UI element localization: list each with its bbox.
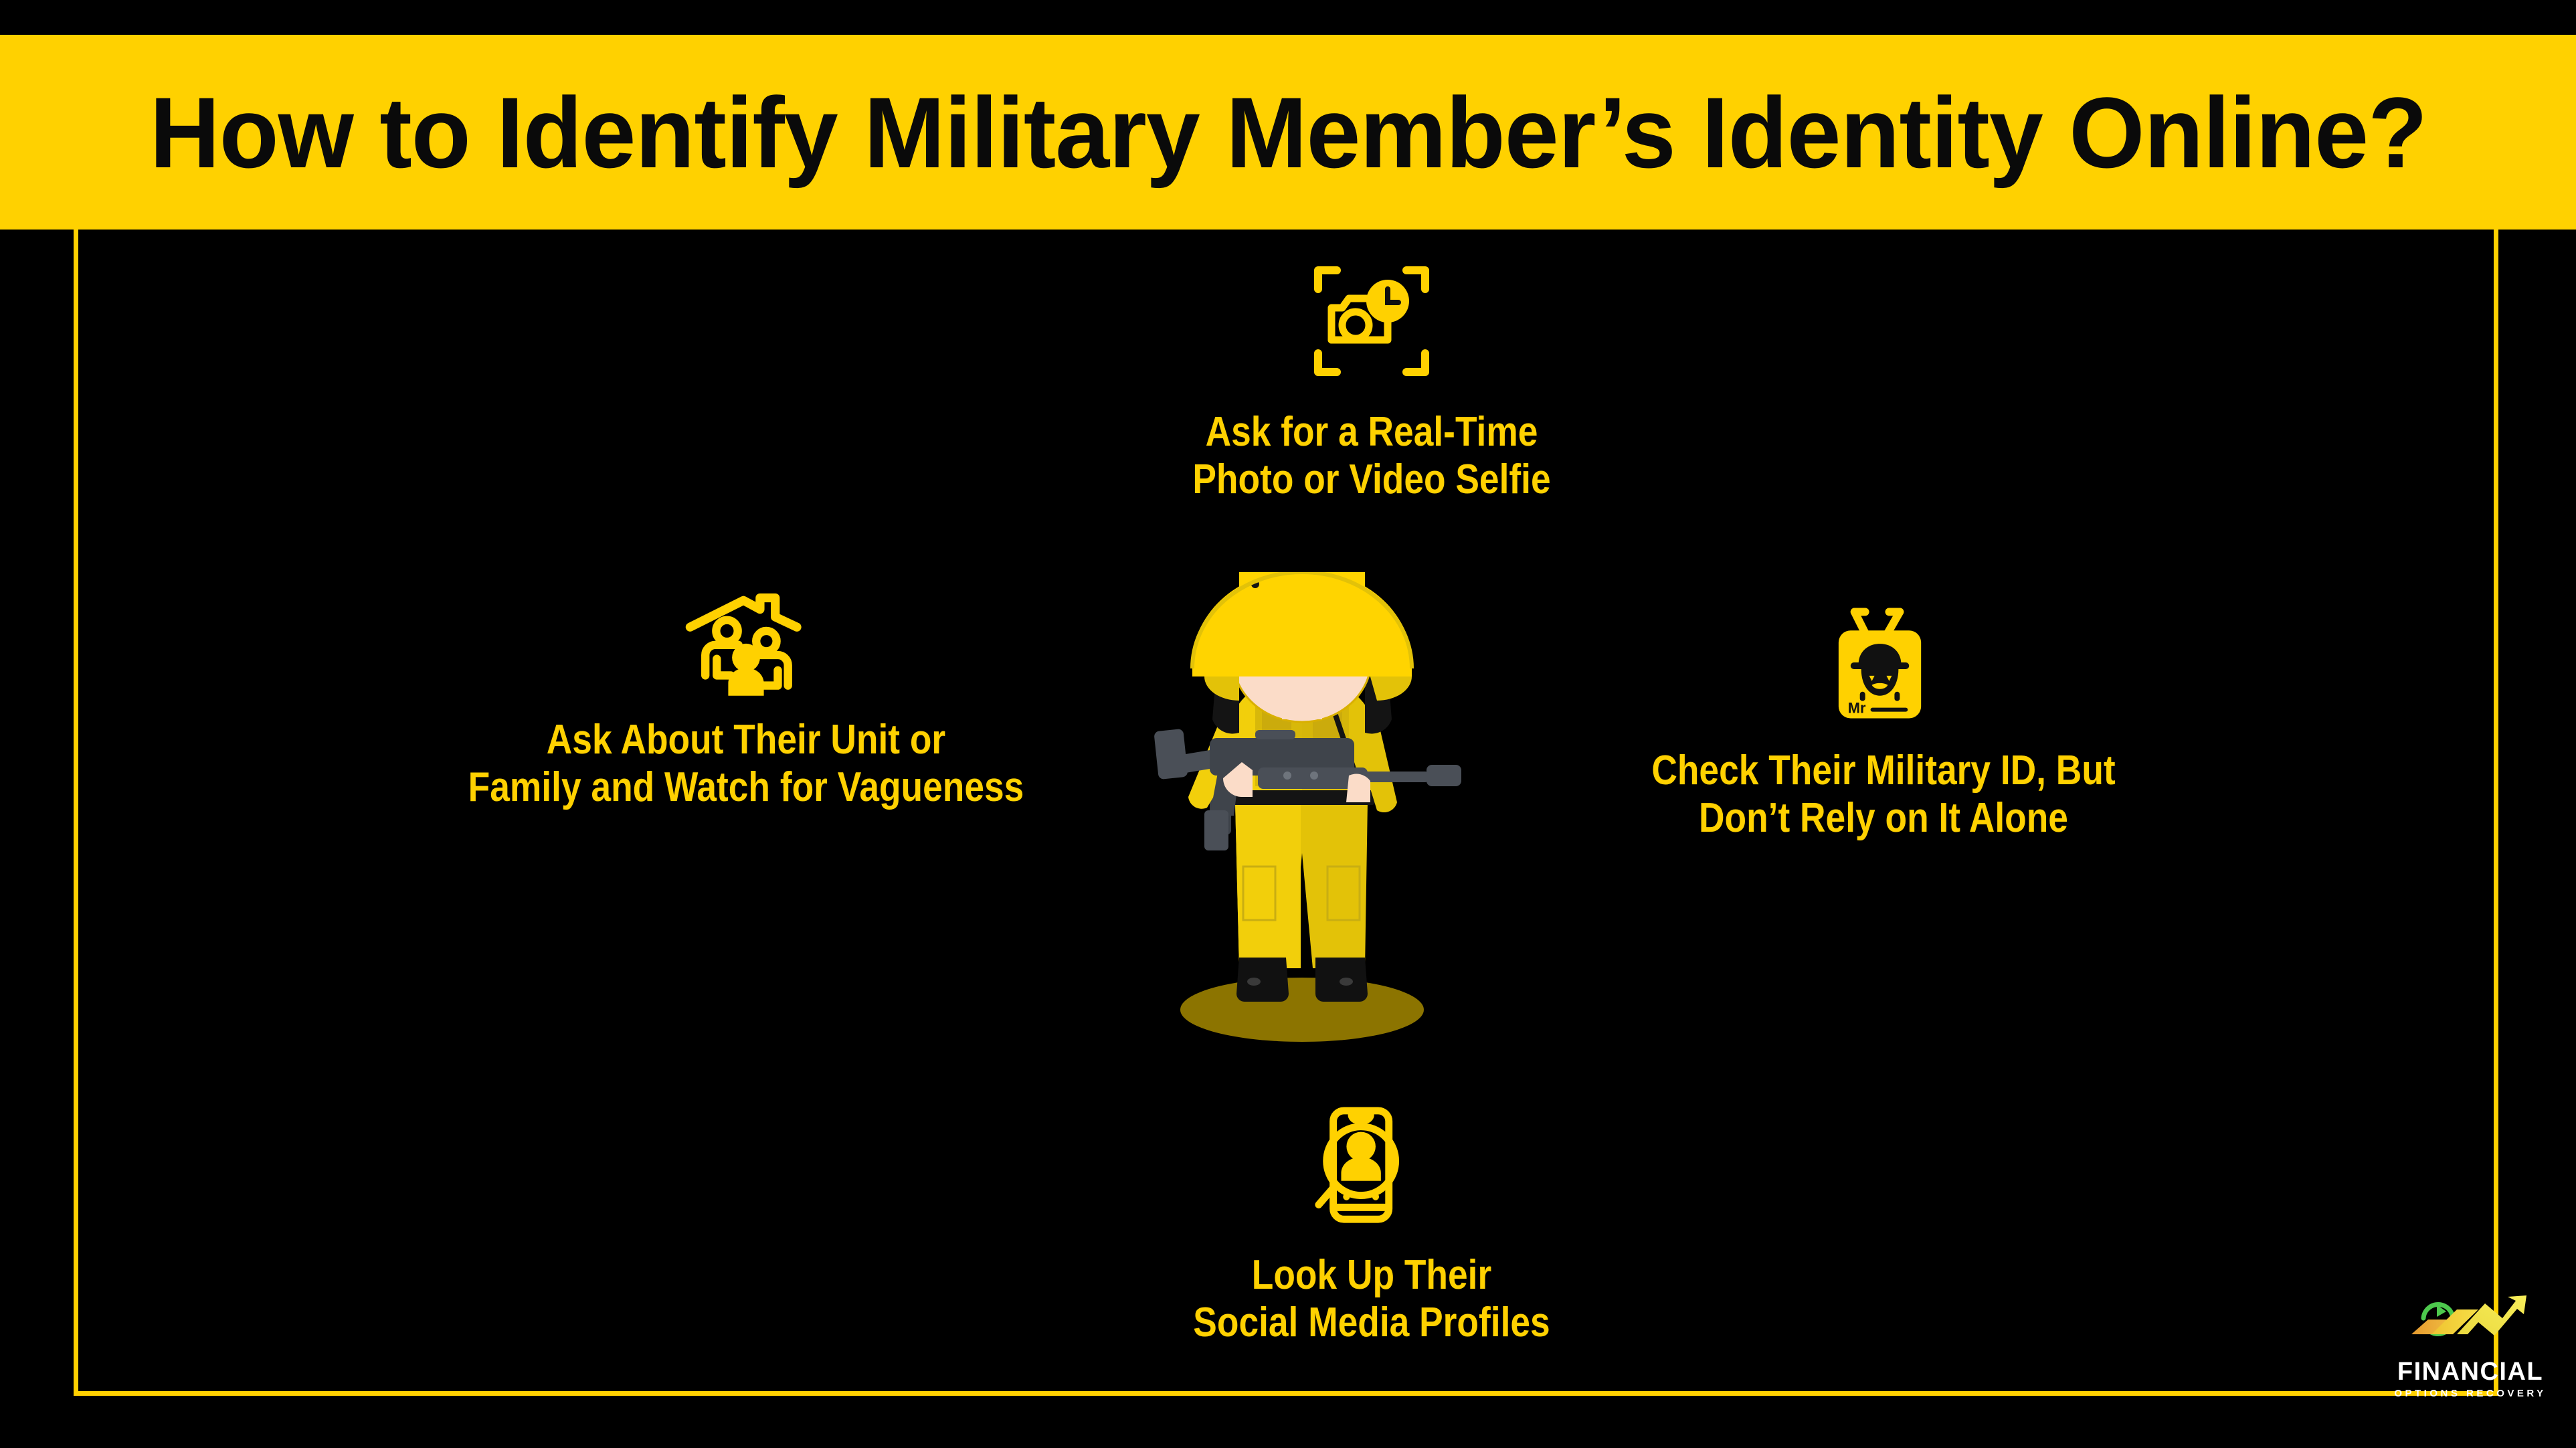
brand-logo: FINANCIAL OPTIONS RECOVERY [2390, 1291, 2551, 1392]
node-real-time-selfie: Ask for a Real-Time Photo or Video Selfi… [963, 254, 1780, 504]
frame-border-left [74, 230, 78, 1396]
node-label: Ask for a Real-Time Photo or Video Selfi… [1020, 408, 1722, 504]
logo-mark [2390, 1291, 2551, 1356]
node-social-media: Look Up Their Social Media Profiles [963, 1104, 1780, 1347]
camera-clock-scan-icon [963, 254, 1780, 388]
page-title: How to Identify Military Member’s Identi… [149, 82, 2426, 183]
family-home-icon [335, 589, 1158, 696]
soldier-shadow [1180, 978, 1424, 1042]
node-unit-and-family: Ask About Their Unit or Family and Watch… [335, 589, 1158, 812]
node-label: Look Up Their Social Media Profiles [1020, 1251, 1722, 1347]
title-banner: How to Identify Military Member’s Identi… [0, 35, 2576, 230]
id-badge-icon: Mr [1532, 596, 2235, 729]
node-military-id: Mr Check Their Military ID, But Don’t Re… [1532, 596, 2235, 842]
node-label: Check Their Military ID, But Don’t Rely … [1582, 747, 2186, 842]
soldier-illustration [1111, 572, 1485, 1061]
soldier-pants [1235, 802, 1368, 968]
phone-profile-search-icon [963, 1104, 1780, 1231]
logo-name: FINANCIAL [2390, 1358, 2551, 1386]
frame-border-bottom [74, 1391, 2498, 1396]
logo-tagline: OPTIONS RECOVERY [2390, 1388, 2551, 1399]
frame-border-right [2494, 230, 2498, 1396]
badge-honorific: Mr [1847, 700, 1865, 717]
node-label: Ask About Their Unit or Family and Watch… [392, 716, 1100, 812]
